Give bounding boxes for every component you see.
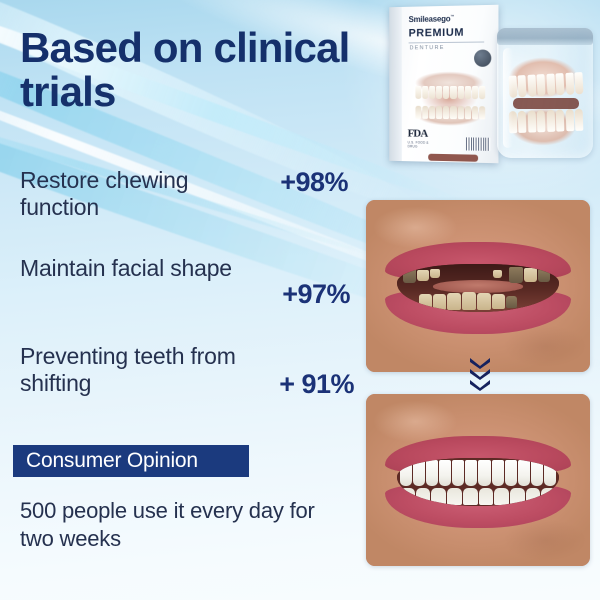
tooth [556, 109, 565, 131]
tooth [575, 109, 584, 131]
tooth [544, 460, 556, 486]
tooth [541, 488, 556, 505]
tooth [443, 106, 449, 119]
tooth [416, 488, 431, 505]
tooth [430, 269, 440, 278]
tooth [465, 106, 471, 119]
tooth [556, 73, 565, 95]
tooth [479, 86, 485, 99]
tooth [494, 488, 509, 505]
chevron-down-icon [469, 368, 491, 379]
tooth [546, 74, 555, 96]
tooth [565, 109, 574, 131]
box-denture-illustration [403, 62, 497, 137]
denture-jar-image [497, 28, 593, 158]
mouth-opening [397, 264, 559, 312]
tooth [400, 488, 415, 505]
tooth [538, 269, 550, 282]
tooth [472, 106, 478, 119]
tooth [505, 460, 517, 486]
brand-text: Smileasego [409, 15, 451, 25]
lips [385, 234, 571, 338]
page-title: Based on clinical trials [20, 26, 370, 113]
tooth [422, 106, 428, 119]
tooth [465, 460, 477, 486]
tooth [422, 86, 428, 99]
tooth [463, 488, 478, 505]
down-chevrons-icon [469, 357, 493, 393]
tooth [443, 86, 449, 99]
tooth [465, 86, 471, 99]
tooth [436, 86, 442, 99]
tooth [447, 293, 461, 310]
consumer-opinion-body: 500 people use it every day for two week… [20, 497, 330, 552]
tooth [415, 106, 421, 119]
lips [385, 428, 571, 532]
tooth [518, 75, 527, 97]
mouth-gap [513, 98, 579, 109]
product-box-image: Smileasego™ PREMIUM DENTURE FDA U.S. FOO… [389, 5, 498, 164]
tooth [429, 106, 435, 119]
tooth [450, 86, 456, 99]
tooth [433, 294, 446, 310]
tooth [419, 294, 432, 309]
mouth-opening [397, 458, 559, 506]
tooth [528, 110, 537, 132]
tooth [546, 110, 555, 132]
upper-tooth-row [400, 460, 556, 486]
tooth [524, 268, 537, 282]
tooth [526, 488, 541, 505]
tooth [479, 106, 485, 119]
missing-tooth-gap [441, 269, 475, 279]
tooth [509, 267, 523, 283]
product-brand-name: Smileasego™ [409, 14, 455, 24]
tooth [518, 111, 527, 133]
tooth [506, 296, 517, 308]
after-photo [366, 394, 590, 566]
tooth [429, 86, 435, 99]
tooth [537, 74, 546, 96]
tooth [537, 110, 546, 132]
consumer-opinion-banner: Consumer Opinion [13, 445, 249, 477]
tooth [477, 293, 491, 310]
tooth [450, 106, 456, 119]
benefit-row: Maintain facial shape +97% [20, 255, 350, 343]
consumer-opinion-label: Consumer Opinion [13, 449, 198, 473]
tooth [431, 488, 446, 505]
benefit-percent: + 91% [279, 369, 354, 400]
tooth [574, 72, 583, 94]
tooth [400, 460, 412, 486]
benefit-row: Restore chewing function +98% [20, 167, 350, 255]
tooth [527, 75, 536, 97]
lower-tooth-row [415, 106, 485, 120]
barcode-icon [466, 137, 490, 151]
tooth [565, 73, 574, 95]
benefit-label: Preventing teeth from shifting [20, 343, 252, 397]
tooth [472, 86, 478, 99]
tooth [413, 460, 425, 486]
jar-lid [497, 28, 593, 45]
tooth [510, 488, 525, 505]
product-category-label: DENTURE [410, 45, 445, 51]
benefit-row: Preventing teeth from shifting + 91% [20, 343, 350, 431]
tooth [493, 270, 502, 278]
tooth [458, 106, 464, 119]
tooth [458, 86, 464, 99]
tooth [479, 488, 494, 505]
before-photo [366, 200, 590, 372]
tooth [478, 460, 490, 486]
box-spine [389, 7, 402, 161]
product-tier-label: PREMIUM [409, 27, 465, 40]
tooth [492, 294, 505, 309]
white-teeth [397, 458, 559, 506]
upper-tooth-row [415, 86, 485, 99]
jar-highlight [503, 48, 513, 148]
tooth [462, 292, 476, 310]
tooth [447, 488, 462, 505]
tooth [417, 270, 429, 281]
damaged-teeth [397, 264, 559, 312]
chevron-down-icon [469, 357, 491, 368]
benefits-list: Restore chewing function +98% Maintain f… [20, 167, 350, 431]
lower-tooth-row [509, 109, 584, 134]
trademark-symbol: ™ [450, 14, 454, 19]
advertisement-canvas: Based on clinical trials Restore chewing… [0, 0, 600, 600]
benefit-percent: +98% [280, 167, 348, 198]
tooth [492, 460, 504, 486]
lower-tooth-row [400, 488, 556, 505]
divider [409, 41, 485, 43]
tooth [426, 460, 438, 486]
chevron-down-icon [469, 379, 491, 390]
tooth [415, 86, 421, 99]
tooth [518, 460, 530, 486]
mouth-gap [428, 154, 478, 162]
tooth [436, 106, 442, 119]
tooth [452, 460, 464, 486]
fda-badge-icon: FDA U.S. FOOD & DRUG [408, 128, 433, 149]
tooth [531, 460, 543, 486]
tooth [403, 268, 416, 283]
fda-mark-label: FDA [408, 128, 433, 140]
benefit-label: Maintain facial shape [20, 255, 252, 282]
benefit-label: Restore chewing function [20, 167, 252, 221]
tooth [439, 460, 451, 486]
fda-sub-label: U.S. FOOD & DRUG [408, 140, 433, 148]
upper-tooth-row [508, 72, 583, 98]
benefit-percent: +97% [282, 279, 350, 310]
